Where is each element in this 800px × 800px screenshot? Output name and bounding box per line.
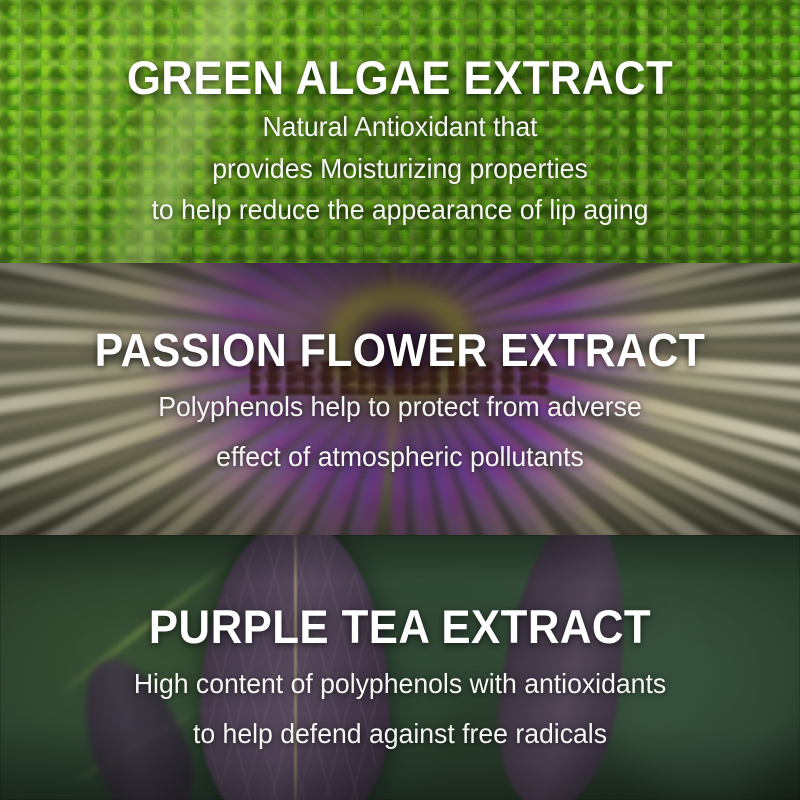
purple-tea-heading: PURPLE TEA EXTRACT xyxy=(41,603,759,651)
green-algae-subtitle: Natural Antioxidant that provides Moistu… xyxy=(14,110,786,227)
passion-flower-subtitle-line-2: effect of atmospheric pollutants xyxy=(33,440,766,474)
purple-tea-subtitle: High content of polyphenols with antioxi… xyxy=(14,667,786,750)
green-algae-subtitle-line-1: Natural Antioxidant that xyxy=(33,110,766,144)
purple-tea-text-block: PURPLE TEA EXTRACT High content of polyp… xyxy=(0,603,800,750)
passion-flower-subtitle-line-1: Polyphenols help to protect from adverse xyxy=(33,390,766,424)
passion-flower-heading: PASSION FLOWER EXTRACT xyxy=(41,327,759,374)
green-algae-subtitle-line-2: provides Moisturizing properties xyxy=(33,152,766,186)
panel-passion-flower: PASSION FLOWER EXTRACT Polyphenols help … xyxy=(0,263,800,535)
green-algae-heading: GREEN ALGAE EXTRACT xyxy=(41,54,759,102)
purple-tea-subtitle-line-2: to help defend against free radicals xyxy=(33,717,766,751)
green-algae-subtitle-line-3: to help reduce the appearance of lip agi… xyxy=(33,193,766,227)
passion-flower-subtitle: Polyphenols help to protect from adverse… xyxy=(14,390,786,473)
panel-purple-tea: PURPLE TEA EXTRACT High content of polyp… xyxy=(0,535,800,800)
green-algae-text-block: GREEN ALGAE EXTRACT Natural Antioxidant … xyxy=(0,54,800,227)
panel-green-algae: GREEN ALGAE EXTRACT Natural Antioxidant … xyxy=(0,0,800,263)
purple-tea-subtitle-line-1: High content of polyphenols with antioxi… xyxy=(33,667,766,701)
passion-flower-text-block: PASSION FLOWER EXTRACT Polyphenols help … xyxy=(0,327,800,473)
ingredient-benefits-poster: GREEN ALGAE EXTRACT Natural Antioxidant … xyxy=(0,0,800,800)
